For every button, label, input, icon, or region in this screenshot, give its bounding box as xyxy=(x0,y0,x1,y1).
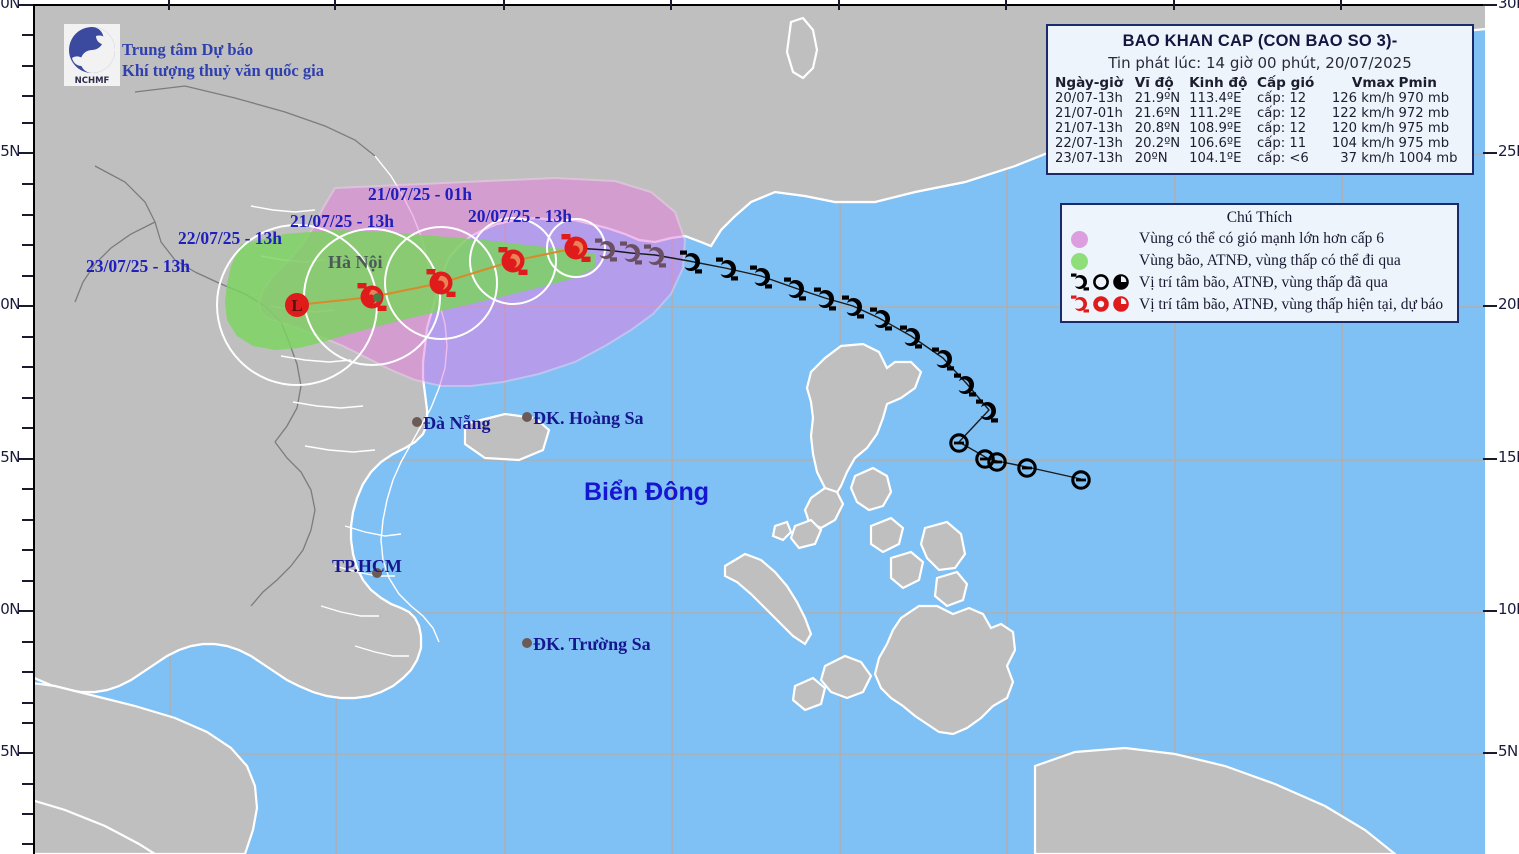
table-row: 22/07-13h 20.2ºN 106.6ºE cấp: 11 104 km/… xyxy=(1054,136,1466,151)
cell-vmax: 37 km/h xyxy=(1323,151,1398,166)
table-row: 20/07-13h 21.9ºN 113.4ºE cấp: 12 126 km/… xyxy=(1054,91,1466,106)
table-row: 21/07-01h 21.6ºN 111.2ºE cấp: 12 122 km/… xyxy=(1054,106,1466,121)
cell-grade: cấp: 12 xyxy=(1256,106,1323,121)
lat-label-left-25n: 25N xyxy=(0,142,20,160)
col-datetime: Ngày-giờ xyxy=(1054,75,1133,91)
city-dot-tp-hcm xyxy=(372,568,382,578)
logo-caption: NCHMF xyxy=(75,76,110,86)
cell-lon: 108.9ºE xyxy=(1187,121,1256,136)
cell-lat: 20ºN xyxy=(1133,151,1187,166)
cell-lon: 113.4ºE xyxy=(1187,91,1256,106)
lat-label-right-30n: 30N xyxy=(1498,0,1519,12)
cell-pmin: 972 mb xyxy=(1397,106,1466,121)
city-dot-hanoi xyxy=(373,293,382,302)
cell-vmax: 126 km/h xyxy=(1323,91,1398,106)
col-longitude: Kinh độ xyxy=(1187,75,1256,91)
cell-pmin: 975 mb xyxy=(1397,136,1466,151)
storm-info-panel: BAO KHAN CAP (CON BAO SO 3)- Tin phát lú… xyxy=(1046,24,1474,175)
forecast-low-L: L xyxy=(285,293,309,317)
lat-label-right-20n: 20N xyxy=(1498,295,1519,313)
pink-circle-swatch xyxy=(1067,231,1139,248)
cell-datetime: 21/07-13h xyxy=(1054,121,1133,136)
mindanao xyxy=(875,606,1015,734)
col-vmax: Vmax xyxy=(1323,75,1398,91)
col-pmin: Pmin xyxy=(1397,75,1466,91)
cell-grade: cấp: 11 xyxy=(1256,136,1323,151)
cell-vmax: 122 km/h xyxy=(1323,106,1398,121)
cell-grade: cấp: <6 xyxy=(1256,151,1323,166)
cell-lon: 106.6ºE xyxy=(1187,136,1256,151)
issued-time: Tin phát lúc: 14 giờ 00 phút, 20/07/2025 xyxy=(1054,54,1466,72)
cell-lat: 20.8ºN xyxy=(1133,121,1187,136)
lat-label-left-10n: 10N xyxy=(0,600,20,618)
cell-datetime: 23/07-13h xyxy=(1054,151,1133,166)
cell-pmin: 970 mb xyxy=(1397,91,1466,106)
org-line-1: Trung tâm Dự báo xyxy=(122,40,324,61)
nchmf-logo-icon: NCHMF xyxy=(64,24,120,86)
cell-vmax: 120 km/h xyxy=(1323,121,1398,136)
lat-label-left-30n: 30N xyxy=(0,0,20,12)
lat-label-right-10n: 10N xyxy=(1498,600,1519,618)
legend-item-pink-zone: Vùng có thể có gió mạnh lớn hơn cấp 6 xyxy=(1067,228,1452,250)
col-latitude: Vĩ độ xyxy=(1133,75,1187,91)
cell-lon: 111.2ºE xyxy=(1187,106,1256,121)
lat-label-right-25n: 25N xyxy=(1498,142,1519,160)
col-grade: Cấp gió xyxy=(1256,75,1323,91)
forecast-table: Ngày-giờ Vĩ độ Kinh độ Cấp gió Vmax Pmin… xyxy=(1054,75,1466,166)
cell-grade: cấp: 12 xyxy=(1256,91,1323,106)
island-dot-truong-sa xyxy=(522,638,532,648)
cell-lat: 21.9ºN xyxy=(1133,91,1187,106)
legend-item-green-zone: Vùng bão, ATNĐ, vùng thấp có thể đi qua xyxy=(1067,250,1452,272)
org-line-2: Khí tượng thuỷ văn quốc gia xyxy=(122,61,324,82)
lat-label-right-5n: 5N xyxy=(1498,742,1518,760)
borneo xyxy=(1035,748,1395,854)
map-legend: Chú Thích Vùng có thể có gió mạnh lớn hơ… xyxy=(1060,203,1459,323)
cell-grade: cấp: 12 xyxy=(1256,121,1323,136)
palawan xyxy=(725,554,811,644)
typhoon-forecast-map: L 20/07/25 - 13h 21/07/25 - 01h 21/07/25… xyxy=(0,0,1519,854)
legend-label: Vị trí tâm bão, ATNĐ, vùng thấp đã qua xyxy=(1139,274,1388,292)
green-circle-swatch xyxy=(1067,253,1139,270)
hainan xyxy=(465,414,549,460)
cell-pmin: 975 mb xyxy=(1397,121,1466,136)
lat-label-left-20n: 20N xyxy=(0,295,20,313)
city-dot-da-nang xyxy=(412,417,422,427)
black-cyclone-circle-low-icons xyxy=(1067,273,1139,293)
lat-label-left-5n: 5N xyxy=(0,742,20,760)
legend-label: Vùng có thể có gió mạnh lớn hơn cấp 6 xyxy=(1139,230,1384,248)
cell-pmin: 1004 mb xyxy=(1397,151,1466,166)
cell-datetime: 22/07-13h xyxy=(1054,136,1133,151)
legend-label: Vị trí tâm bão, ATNĐ, vùng thấp hiện tại… xyxy=(1139,296,1443,314)
table-header-row: Ngày-giờ Vĩ độ Kinh độ Cấp gió Vmax Pmin xyxy=(1054,75,1466,91)
table-row: 21/07-13h 20.8ºN 108.9ºE cấp: 12 120 km/… xyxy=(1054,121,1466,136)
legend-item-past-positions: Vị trí tâm bão, ATNĐ, vùng thấp đã qua xyxy=(1067,272,1452,294)
table-row: 23/07-13h 20ºN 104.1ºE cấp: <6 37 km/h 1… xyxy=(1054,151,1466,166)
island-dot-hoang-sa xyxy=(522,412,532,422)
organization-name: Trung tâm Dự báo Khí tượng thuỷ văn quốc… xyxy=(122,40,324,81)
red-cyclone-circle-low-icons xyxy=(1067,295,1139,315)
storm-title: BAO KHAN CAP (CON BAO SO 3)- xyxy=(1054,32,1466,51)
lat-label-right-15n: 15N xyxy=(1498,448,1519,466)
legend-label: Vùng bão, ATNĐ, vùng thấp có thể đi qua xyxy=(1139,252,1401,270)
past-positions-low xyxy=(951,435,1089,488)
legend-title: Chú Thích xyxy=(1067,209,1452,227)
cell-datetime: 21/07-01h xyxy=(1054,106,1133,121)
cell-lat: 21.6ºN xyxy=(1133,106,1187,121)
svg-text:L: L xyxy=(291,296,302,315)
cell-datetime: 20/07-13h xyxy=(1054,91,1133,106)
cell-lon: 104.1ºE xyxy=(1187,151,1256,166)
legend-item-current-forecast: Vị trí tâm bão, ATNĐ, vùng thấp hiện tại… xyxy=(1067,294,1452,316)
cell-vmax: 104 km/h xyxy=(1323,136,1398,151)
lat-label-left-15n: 15N xyxy=(0,448,20,466)
cell-lat: 20.2ºN xyxy=(1133,136,1187,151)
